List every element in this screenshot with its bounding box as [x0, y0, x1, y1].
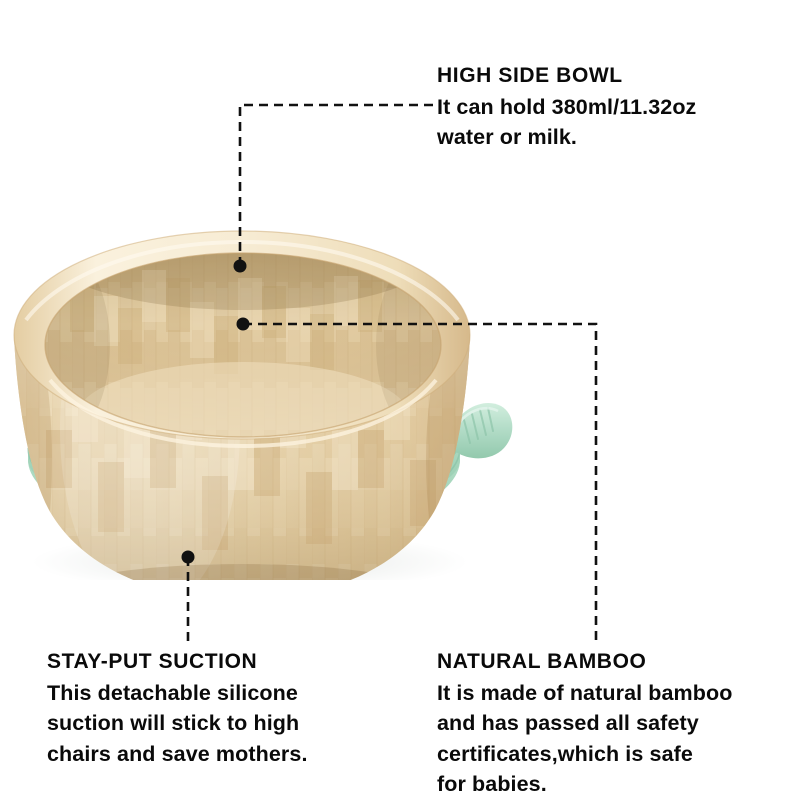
infographic-canvas: HIGH SIDE BOWL It can hold 380ml/11.32oz… — [0, 0, 800, 800]
callout-body-stay-put-suction: This detachable silicone suction will st… — [47, 678, 417, 770]
callout-body-line: for babies. — [437, 769, 797, 800]
callout-body-high-side-bowl: It can hold 380ml/11.32oz water or milk. — [437, 92, 797, 153]
callout-high-side-bowl: HIGH SIDE BOWL It can hold 380ml/11.32oz… — [437, 62, 797, 153]
callout-body-line: chairs and save mothers. — [47, 739, 417, 770]
callout-stay-put-suction: STAY-PUT SUCTION This detachable silicon… — [47, 648, 417, 769]
callout-body-line: It can hold 380ml/11.32oz — [437, 92, 797, 123]
product-image-bamboo-bowl — [0, 130, 540, 580]
callout-body-line: and has passed all safety — [437, 708, 797, 739]
callout-title-stay-put-suction: STAY-PUT SUCTION — [47, 648, 417, 676]
callout-body-line: certificates,which is safe — [437, 739, 797, 770]
callout-natural-bamboo: NATURAL BAMBOO It is made of natural bam… — [437, 648, 797, 800]
callout-title-natural-bamboo: NATURAL BAMBOO — [437, 648, 797, 676]
callout-title-high-side-bowl: HIGH SIDE BOWL — [437, 62, 797, 90]
callout-body-line: This detachable silicone — [47, 678, 417, 709]
callout-body-line: water or milk. — [437, 122, 797, 153]
callout-body-line: suction will stick to high — [47, 708, 417, 739]
callout-body-natural-bamboo: It is made of natural bamboo and has pas… — [437, 678, 797, 800]
callout-body-line: It is made of natural bamboo — [437, 678, 797, 709]
